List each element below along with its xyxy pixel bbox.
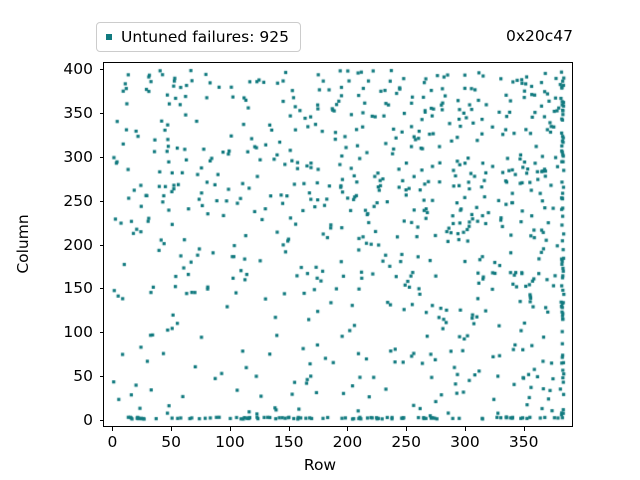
y-tick-label: 150 [63,279,93,297]
x-tick-mark [347,427,348,431]
x-tick-label: 350 [509,433,539,451]
scatter-plot-figure: Untuned failures: 925 0x20c47 0501001502… [0,0,640,480]
x-tick-mark [289,427,290,431]
figure-title: 0x20c47 [506,27,573,45]
x-tick-mark [524,427,525,431]
scatter-points-canvas [104,63,572,426]
x-tick-mark [171,427,172,431]
x-axis-label: Row [0,456,640,474]
y-tick-mark [100,201,104,202]
y-tick-mark [100,376,104,377]
x-tick-mark [465,427,466,431]
y-tick-label: 400 [63,60,93,78]
x-tick-label: 50 [161,433,181,451]
y-axis-label: Column [14,214,32,273]
y-tick-label: 50 [73,367,93,385]
legend[interactable]: Untuned failures: 925 [96,22,301,52]
y-tick-mark [100,245,104,246]
y-tick-mark [100,288,104,289]
x-tick-mark [112,427,113,431]
x-tick-mark [406,427,407,431]
x-tick-mark [230,427,231,431]
x-tick-label: 0 [107,433,117,451]
y-tick-mark [100,113,104,114]
legend-label: Untuned failures: 925 [121,28,289,46]
y-tick-mark [100,69,104,70]
y-tick-label: 300 [63,148,93,166]
y-tick-mark [100,332,104,333]
plot-area[interactable] [103,62,573,427]
y-tick-label: 350 [63,104,93,122]
legend-square-marker-icon [106,34,112,40]
x-tick-label: 300 [450,433,480,451]
y-tick-label: 100 [63,323,93,341]
y-tick-label: 250 [63,192,93,210]
y-tick-mark [100,420,104,421]
x-tick-label: 200 [333,433,363,451]
y-tick-mark [100,157,104,158]
x-tick-label: 150 [274,433,304,451]
x-tick-label: 250 [391,433,421,451]
y-tick-label: 0 [83,411,93,429]
y-tick-label: 200 [63,236,93,254]
x-tick-label: 100 [215,433,245,451]
